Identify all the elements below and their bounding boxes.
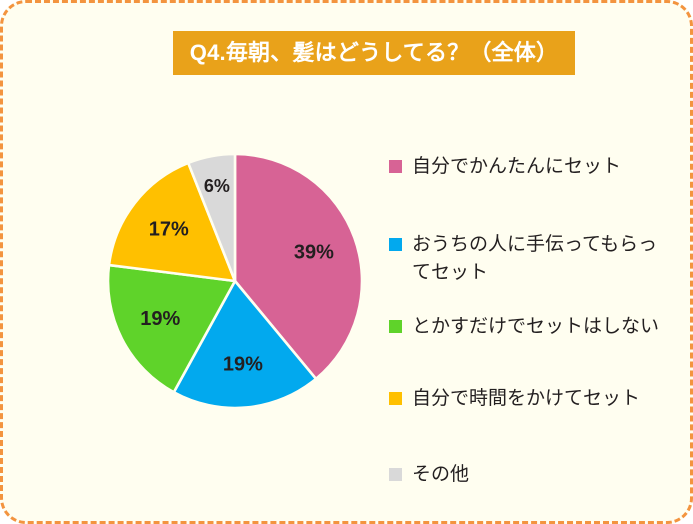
pie-slice-value-label: 19% xyxy=(223,353,263,375)
legend-item-2[interactable]: とかすだけでセットはしない xyxy=(389,313,679,341)
legend-swatch-green xyxy=(389,320,402,333)
pie-slice-value-label: 19% xyxy=(140,308,180,330)
legend-swatch-yellow xyxy=(389,392,402,405)
chart-card: Q4.毎朝、髪はどうしてる？（全体） 39%19%19%17%6% 自分でかんた… xyxy=(0,0,693,524)
legend-item-3[interactable]: 自分で時間をかけてセット xyxy=(389,385,679,413)
pie-chart-svg: 39%19%19%17%6% xyxy=(106,152,364,410)
page-title: Q4.毎朝、髪はどうしてる？（全体） xyxy=(190,42,558,64)
legend-item-0[interactable]: 自分でかんたんにセット xyxy=(389,153,679,181)
legend-label-4: その他 xyxy=(412,461,469,489)
pie-slice-value-label: 39% xyxy=(294,242,334,264)
legend-label-3: 自分で時間をかけてセット xyxy=(412,385,640,413)
legend-label-1: おうちの人に手伝ってもらっ てセット xyxy=(412,231,657,287)
legend-label-0: 自分でかんたんにセット xyxy=(412,153,621,181)
pie-slice-value-label: 17% xyxy=(149,219,189,241)
pie-chart: 39%19%19%17%6% xyxy=(106,152,364,410)
legend-swatch-blue xyxy=(389,238,402,251)
legend-swatch-gray xyxy=(389,468,402,481)
legend-label-2: とかすだけでセットはしない xyxy=(412,313,659,341)
pie-slice-value-label: 6% xyxy=(204,176,230,196)
legend-swatch-pink xyxy=(389,160,402,173)
legend-item-4[interactable]: その他 xyxy=(389,461,679,489)
legend-item-1[interactable]: おうちの人に手伝ってもらっ てセット xyxy=(389,231,679,287)
chart-legend: 自分でかんたんにセット おうちの人に手伝ってもらっ てセット とかすだけでセット… xyxy=(389,153,679,489)
title-banner: Q4.毎朝、髪はどうしてる？（全体） xyxy=(173,31,575,75)
